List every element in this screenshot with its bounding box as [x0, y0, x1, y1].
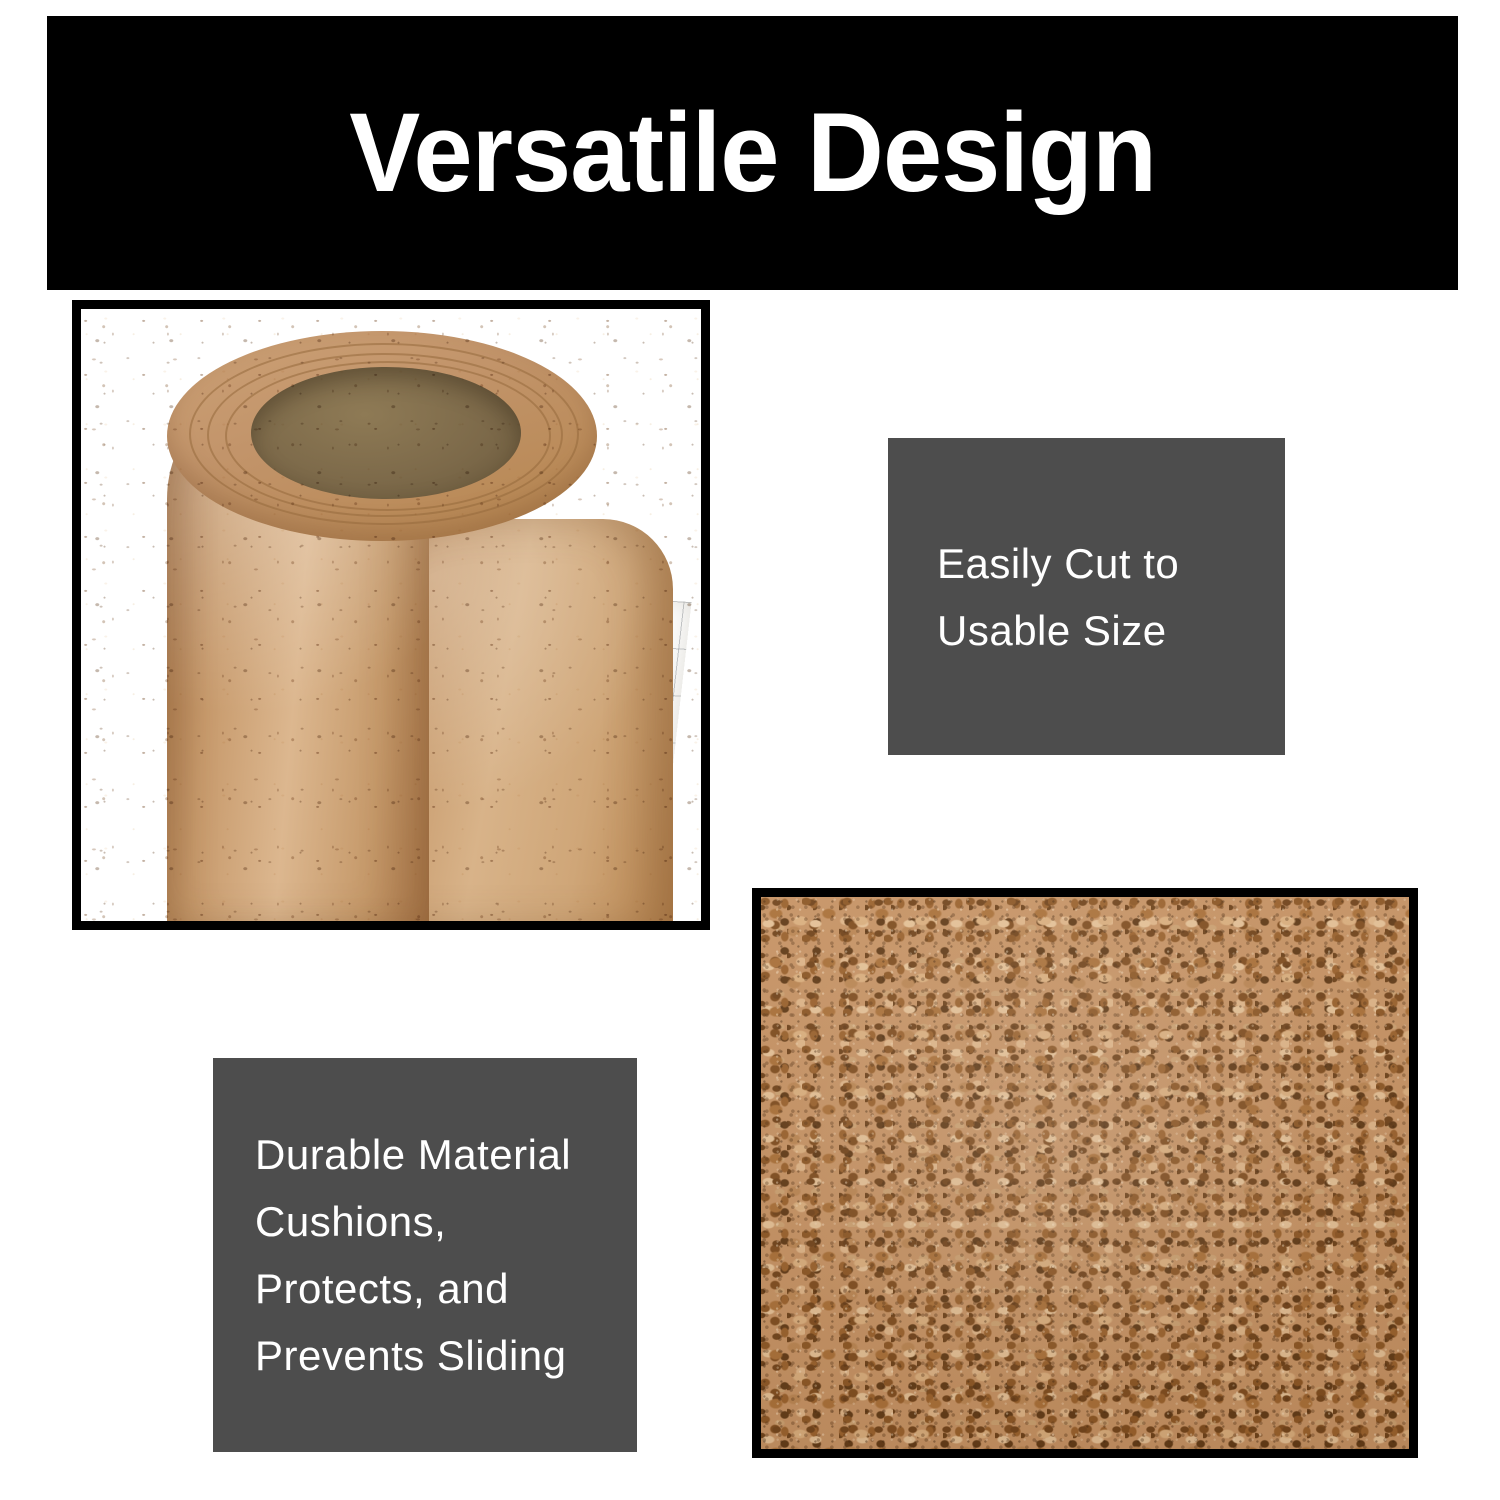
feature-box-durable-material: Durable Material Cushions, Protects, and… — [213, 1058, 637, 1452]
cork-texture-shading — [761, 897, 1409, 1449]
feature-line: Usable Size — [937, 597, 1285, 664]
feature-line: Durable Material — [255, 1121, 637, 1188]
cork-roll-hollow-core — [251, 367, 521, 499]
feature-line: Protects, and — [255, 1255, 637, 1322]
feature-line: Easily Cut to — [937, 530, 1285, 597]
feature-line: Prevents Sliding — [255, 1322, 637, 1389]
page-title: Versatile Design — [349, 97, 1156, 209]
cork-roll-photo: 31cm 32cm 33cm 3) Removing • Start of th… — [72, 300, 710, 930]
cork-roll-illustration: 31cm 32cm 33cm 3) Removing • Start of th… — [81, 309, 701, 921]
title-banner: Versatile Design — [47, 16, 1458, 290]
cork-texture-swatch — [752, 888, 1418, 1458]
feature-box-easily-cut: Easily Cut to Usable Size — [888, 438, 1285, 755]
feature-line: Cushions, — [255, 1188, 637, 1255]
